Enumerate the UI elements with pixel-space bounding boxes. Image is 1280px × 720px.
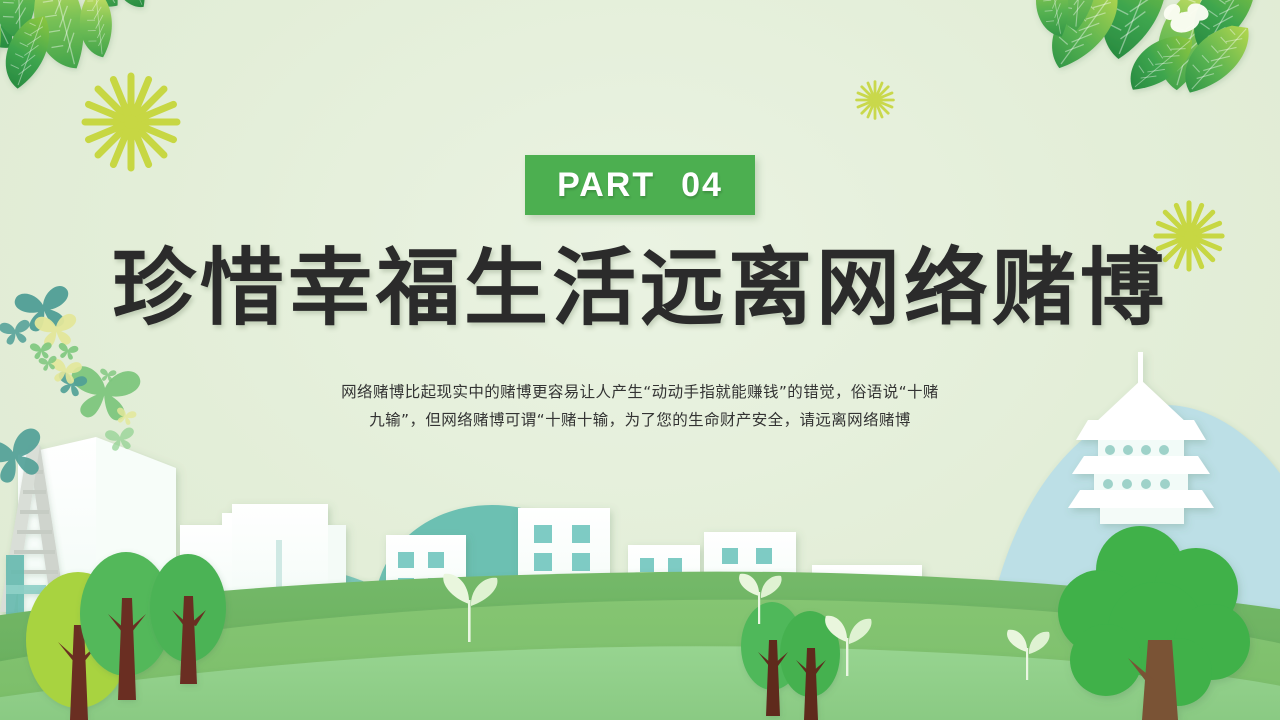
subtitle-line-2: 九输”，但网络赌博可谓“十赌十输，为了您的生命财产安全，请远离网络赌博 [265, 406, 1015, 434]
subtitle-line-1: 网络赌博比起现实中的赌博更容易让人产生“动动手指就能赚钱”的错觉，俗语说“十赌 [265, 378, 1015, 406]
part-label: PART [557, 166, 655, 205]
part-number: 04 [681, 166, 723, 205]
subtitle-text: 网络赌博比起现实中的赌博更容易让人产生“动动手指就能赚钱”的错觉，俗语说“十赌 … [265, 378, 1015, 434]
part-badge[interactable]: PART 04 [525, 155, 755, 215]
page-title: 珍惜幸福生活远离网络赌博 [0, 246, 1280, 330]
slide-canvas: PART 04 珍惜幸福生活远离网络赌博 网络赌博比起现实中的赌博更容易让人产生… [0, 0, 1280, 720]
leaf-cluster-top-right [0, 0, 1280, 720]
